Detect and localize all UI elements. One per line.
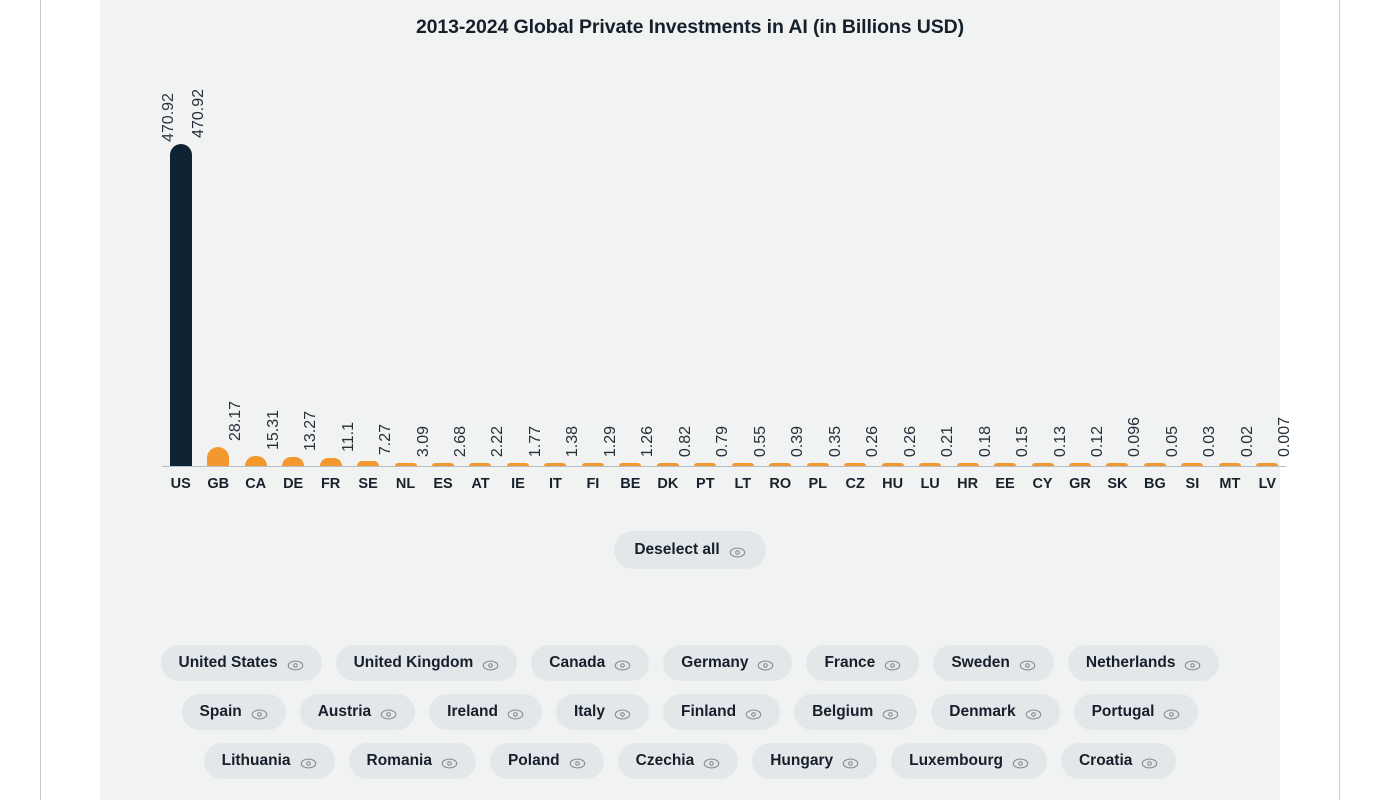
country-chip-label: Italy (574, 703, 605, 721)
x-tick-label: IT (537, 467, 574, 501)
bar-column[interactable]: 0.13 (1024, 60, 1061, 466)
bar[interactable] (245, 456, 267, 466)
x-tick-label: SI (1174, 467, 1211, 501)
bar-column[interactable]: 0.007 (1249, 60, 1286, 466)
eye-icon (482, 658, 499, 669)
bar-column[interactable]: 11.1 (312, 60, 349, 466)
country-chip-austria[interactable]: Austria (300, 694, 415, 730)
eye-icon (729, 545, 746, 556)
bar-column[interactable]: 1.29 (574, 60, 611, 466)
bar-column[interactable]: 7.27 (349, 60, 386, 466)
x-tick-label: ES (424, 467, 461, 501)
x-tick-label: CA (237, 467, 274, 501)
bar-column[interactable]: 0.03 (1174, 60, 1211, 466)
country-chip-finland[interactable]: Finland (663, 694, 780, 730)
country-chip-label: Hungary (770, 752, 833, 770)
x-tick-label: HU (874, 467, 911, 501)
country-chip-label: Netherlands (1086, 654, 1176, 672)
country-chip-label: Croatia (1079, 752, 1132, 770)
bar[interactable] (170, 144, 192, 466)
chart-panel: 2013-2024 Global Private Investments in … (100, 0, 1280, 800)
eye-icon (1019, 658, 1036, 669)
country-chip-label: Canada (549, 654, 605, 672)
bar-column[interactable]: 0.82 (649, 60, 686, 466)
country-chip-label: Lithuania (222, 752, 291, 770)
country-chip-label: United States (179, 654, 278, 672)
x-tick-label: BG (1136, 467, 1173, 501)
country-chip-label: Poland (508, 752, 560, 770)
country-chip-hungary[interactable]: Hungary (752, 743, 877, 779)
x-tick-label: DE (274, 467, 311, 501)
country-chip-label: Czechia (636, 752, 695, 770)
country-chip-label: Ireland (447, 703, 498, 721)
x-tick-label: GR (1061, 467, 1098, 501)
country-chip-croatia[interactable]: Croatia (1061, 743, 1176, 779)
bar-column[interactable]: 1.77 (499, 60, 536, 466)
bar-column[interactable]: 0.39 (762, 60, 799, 466)
eye-icon (1184, 658, 1201, 669)
x-tick-label: CY (1024, 467, 1061, 501)
country-chip-label: Denmark (949, 703, 1015, 721)
eye-icon (300, 756, 317, 767)
bar-chart-plot: 470.92 470.9228.1715.3113.2711.17.273.09… (160, 60, 1286, 467)
country-chip-spain[interactable]: Spain (182, 694, 286, 730)
bar-column[interactable]: 0.096 (1099, 60, 1136, 466)
country-chip-label: Germany (681, 654, 748, 672)
country-chip-label: Sweden (951, 654, 1010, 672)
x-tick-label: SE (349, 467, 386, 501)
bar-column[interactable]: 2.22 (462, 60, 499, 466)
country-chip-list: United StatesUnited KingdomCanadaGermany… (130, 645, 1250, 792)
bar-column[interactable]: 0.26 (836, 60, 873, 466)
country-chip-romania[interactable]: Romania (349, 743, 476, 779)
x-tick-label: SK (1099, 467, 1136, 501)
x-tick-label: GB (199, 467, 236, 501)
country-chip-denmark[interactable]: Denmark (931, 694, 1059, 730)
eye-icon (569, 756, 586, 767)
chart-title: 2013-2024 Global Private Investments in … (100, 16, 1280, 39)
eye-icon (441, 756, 458, 767)
bar-column[interactable]: 0.12 (1061, 60, 1098, 466)
x-tick-label: FI (574, 467, 611, 501)
bar-column[interactable]: 15.31 (237, 60, 274, 466)
bar-column[interactable]: 0.21 (911, 60, 948, 466)
x-tick-label: LT (724, 467, 761, 501)
country-chip-label: Romania (367, 752, 432, 770)
bar-column[interactable]: 0.79 (687, 60, 724, 466)
deselect-all-label: Deselect all (634, 541, 719, 559)
eye-icon (757, 658, 774, 669)
x-tick-label: FR (312, 467, 349, 501)
eye-icon (614, 707, 631, 718)
country-chip-poland[interactable]: Poland (490, 743, 604, 779)
country-chip-italy[interactable]: Italy (556, 694, 649, 730)
x-tick-label: CZ (836, 467, 873, 501)
country-chip-lithuania[interactable]: Lithuania (204, 743, 335, 779)
x-tick-label: HR (949, 467, 986, 501)
x-tick-label: IE (499, 467, 536, 501)
country-chip-label: Luxembourg (909, 752, 1003, 770)
bar-column[interactable]: 0.55 (724, 60, 761, 466)
bar-column[interactable]: 3.09 (387, 60, 424, 466)
country-chip-portugal[interactable]: Portugal (1074, 694, 1199, 730)
country-chip-netherlands[interactable]: Netherlands (1068, 645, 1220, 681)
country-chip-germany[interactable]: Germany (663, 645, 792, 681)
country-chip-row: LithuaniaRomaniaPolandCzechiaHungaryLuxe… (130, 743, 1250, 779)
country-chip-united-kingdom[interactable]: United Kingdom (336, 645, 518, 681)
country-chip-france[interactable]: France (806, 645, 919, 681)
eye-icon (745, 707, 762, 718)
page-right-border (1339, 0, 1340, 800)
deselect-all-button[interactable]: Deselect all (614, 531, 765, 569)
eye-icon (614, 658, 631, 669)
bar-column[interactable]: 1.26 (612, 60, 649, 466)
bar-column[interactable]: 0.05 (1136, 60, 1173, 466)
x-tick-label: NL (387, 467, 424, 501)
x-tick-label: DK (649, 467, 686, 501)
bar-column[interactable]: 0.18 (949, 60, 986, 466)
country-chip-belgium[interactable]: Belgium (794, 694, 917, 730)
x-tick-label: LU (911, 467, 948, 501)
eye-icon (842, 756, 859, 767)
eye-icon (507, 707, 524, 718)
country-chip-label: Finland (681, 703, 736, 721)
x-tick-label: AT (462, 467, 499, 501)
bar-series: 470.9228.1715.3113.2711.17.273.092.682.2… (162, 60, 1286, 466)
bar-column[interactable]: 2.68 (424, 60, 461, 466)
bar-column[interactable]: 0.02 (1211, 60, 1248, 466)
x-tick-label: PL (799, 467, 836, 501)
bar-column[interactable]: 0.35 (799, 60, 836, 466)
x-tick-label: MT (1211, 467, 1248, 501)
country-chip-label: Portugal (1092, 703, 1155, 721)
eye-icon (884, 658, 901, 669)
eye-icon (703, 756, 720, 767)
x-axis-tick-labels: USGBCADEFRSENLESATIEITFIBEDKPTLTROPLCZHU… (162, 467, 1286, 501)
country-chip-label: Spain (200, 703, 242, 721)
country-chip-row: SpainAustriaIrelandItalyFinlandBelgiumDe… (130, 694, 1250, 730)
x-tick-label: US (162, 467, 199, 501)
deselect-all-row: Deselect all (100, 531, 1280, 569)
country-chip-czechia[interactable]: Czechia (618, 743, 739, 779)
country-chip-ireland[interactable]: Ireland (429, 694, 542, 730)
country-chip-label: United Kingdom (354, 654, 474, 672)
country-chip-label: Belgium (812, 703, 873, 721)
bar-column[interactable]: 0.26 (874, 60, 911, 466)
bar[interactable] (207, 447, 229, 466)
bar[interactable] (282, 457, 304, 466)
bar-column[interactable]: 13.27 (274, 60, 311, 466)
bar-column[interactable]: 470.92 (162, 60, 199, 466)
eye-icon (1141, 756, 1158, 767)
eye-icon (287, 658, 304, 669)
bar-column[interactable]: 0.15 (986, 60, 1023, 466)
country-chip-label: Austria (318, 703, 371, 721)
page-left-border (40, 0, 41, 800)
country-chip-united-states[interactable]: United States (161, 645, 322, 681)
x-tick-label: RO (762, 467, 799, 501)
bar-column[interactable]: 1.38 (537, 60, 574, 466)
country-chip-sweden[interactable]: Sweden (933, 645, 1054, 681)
x-tick-label: LV (1249, 467, 1286, 501)
eye-icon (380, 707, 397, 718)
eye-icon (1025, 707, 1042, 718)
eye-icon (882, 707, 899, 718)
bar[interactable] (320, 458, 342, 466)
eye-icon (1163, 707, 1180, 718)
eye-icon (1012, 756, 1029, 767)
country-chip-label: France (824, 654, 875, 672)
x-tick-label: EE (986, 467, 1023, 501)
bar-column[interactable]: 28.17 (199, 60, 236, 466)
country-chip-luxembourg[interactable]: Luxembourg (891, 743, 1047, 779)
country-chip-canada[interactable]: Canada (531, 645, 649, 681)
bar-value-label: 0.007 (1276, 417, 1294, 457)
x-tick-label: PT (687, 467, 724, 501)
eye-icon (251, 707, 268, 718)
country-chip-row: United StatesUnited KingdomCanadaGermany… (130, 645, 1250, 681)
x-tick-label: BE (612, 467, 649, 501)
